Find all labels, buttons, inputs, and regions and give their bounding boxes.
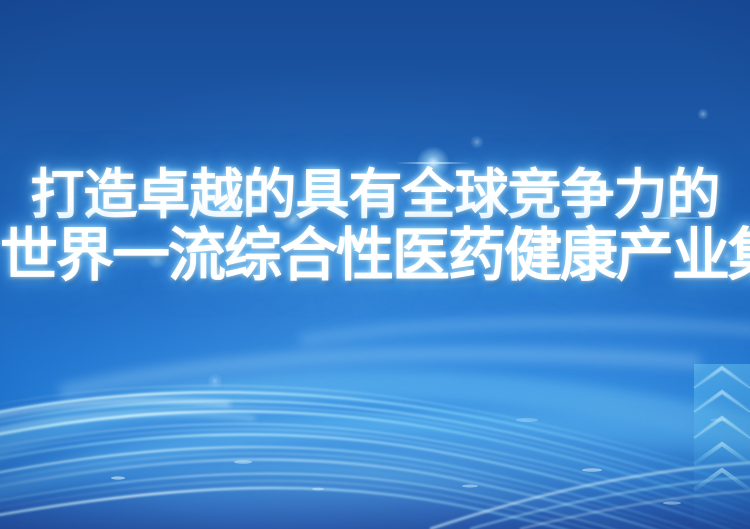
headline-line-1: 打造卓越的具有全球竞争力的 (0, 168, 750, 222)
headline-line-2: 世界一流综合性医药健康产业集团 (0, 226, 750, 284)
headline-block: 打造卓越的具有全球竞争力的 世界一流综合性医药健康产业集团 (0, 168, 750, 284)
promotional-banner: 打造卓越的具有全球竞争力的 世界一流综合性医药健康产业集团 (0, 0, 750, 529)
